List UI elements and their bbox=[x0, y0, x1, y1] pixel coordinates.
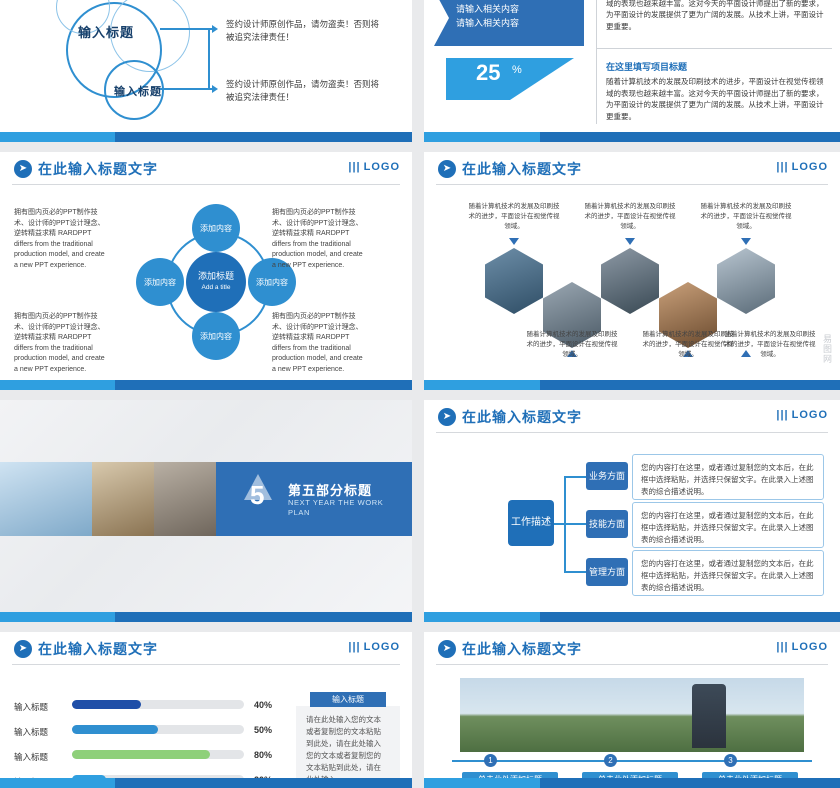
slide-8: ➤ 在此输入标题文字 |||LOGO 1 2 3 单击此处添加标题 单击此处添加… bbox=[424, 632, 840, 788]
slide7-bar-label-2: 输入标题 bbox=[14, 726, 48, 738]
slide4-bottom-bar bbox=[424, 380, 840, 390]
slide8-bullet-2-num: 2 bbox=[608, 756, 612, 765]
connector-vert bbox=[208, 28, 210, 90]
slide-2: 75 % 请输入相关内容 请输入相关内容 25 % 随着计算机技术的发展及印刷技… bbox=[424, 0, 840, 142]
slide2-para-1: 随着计算机技术的发展及印刷技术的进步，平面设计在视觉传视领域的表现也越来越丰富。… bbox=[606, 0, 824, 32]
slide3-logo: |||LOGO bbox=[348, 161, 400, 173]
slide1-title-main: 输入标题 bbox=[78, 22, 134, 41]
slide3-bubble-left-label: 添加内容 bbox=[144, 277, 176, 288]
slide8-photo-figure bbox=[692, 684, 726, 748]
connector-1 bbox=[160, 28, 212, 30]
slide6-box-2-text: 您的内容打在这里，或者通过复制您的文本后，在此框中选择粘贴，并选择只保留文字。在… bbox=[633, 503, 823, 553]
slide6-center-label: 工作描述 bbox=[508, 500, 554, 546]
slide-3: ➤ 在此输入标题文字 |||LOGO 添加标题 Add a title 添加内容… bbox=[0, 152, 412, 390]
slide-1: 输入标题 输入标题 签约设计师原创作品，请勿盗卖！否则将被追究法律责任！ 签约设… bbox=[0, 0, 412, 142]
slide3-bubble-bottom: 添加内容 bbox=[192, 312, 240, 360]
slide2-divider-left bbox=[596, 0, 597, 124]
slide5-title-cn: 第五部分标题 bbox=[288, 480, 372, 499]
slide-grid: 输入标题 输入标题 签约设计师原创作品，请勿盗卖！否则将被追究法律责任！ 签约设… bbox=[0, 0, 840, 788]
slide6-node-2-label: 技能方面 bbox=[589, 518, 625, 530]
slide6-box-3: 您的内容打在这里，或者通过复制您的文本后，在此框中选择粘贴，并选择只保留文字。在… bbox=[632, 550, 824, 596]
slide5-photo-1 bbox=[0, 462, 92, 536]
nav-arrow-icon: ➤ bbox=[438, 640, 456, 658]
nav-arrow-icon: ➤ bbox=[14, 640, 32, 658]
slide3-bottom-bar bbox=[0, 380, 412, 390]
slide3-center-cn: 添加标题 bbox=[198, 271, 234, 282]
slide3-header: ➤ 在此输入标题文字 |||LOGO bbox=[0, 152, 412, 186]
slide3-bubble-right-label: 添加内容 bbox=[256, 277, 288, 288]
slide1-text-1: 签约设计师原创作品，请勿盗卖！否则将被追究法律责任！ bbox=[226, 18, 386, 44]
slide4-logo: |||LOGO bbox=[776, 161, 828, 173]
slide3-bubble-top-label: 添加内容 bbox=[200, 223, 232, 234]
slide8-logo: |||LOGO bbox=[776, 641, 828, 653]
slide7-bar-label-3: 输入标题 bbox=[14, 751, 48, 763]
slide5-bottom-bar bbox=[0, 612, 412, 622]
slide2-divider-top bbox=[596, 48, 832, 49]
slide6-box-1-text: 您的内容打在这里，或者通过复制您的文本后，在此框中选择粘贴，并选择只保留文字。在… bbox=[633, 455, 823, 505]
slide8-header-rule bbox=[436, 664, 828, 665]
slide6-box-2: 您的内容打在这里，或者通过复制您的文本后，在此框中选择粘贴，并选择只保留文字。在… bbox=[632, 502, 824, 548]
slide4-top-text-1: 随着计算机技术的发展及印刷技术的进步，平面设计在视觉传视领域。 bbox=[468, 202, 560, 232]
slide2-pct-25-symbol: % bbox=[512, 64, 522, 76]
slide2-bottom-bar bbox=[424, 132, 840, 142]
watermark: 易图网 bbox=[821, 334, 834, 364]
slide6-logo: |||LOGO bbox=[776, 409, 828, 421]
nav-arrow-icon: ➤ bbox=[14, 160, 32, 178]
slide4-header-rule bbox=[436, 184, 828, 185]
slide6-connector-stub bbox=[554, 523, 566, 525]
slide7-title: 在此输入标题文字 bbox=[38, 639, 158, 659]
slide6-box-3-text: 您的内容打在这里，或者通过复制您的文本后，在此框中选择粘贴，并选择只保留文字。在… bbox=[633, 551, 823, 601]
slide6-header-rule bbox=[436, 432, 828, 433]
slide6-center-text: 工作描述 bbox=[511, 516, 551, 530]
slide2-chev-line1: 请输入相关内容 bbox=[456, 2, 519, 15]
nav-arrow-icon: ➤ bbox=[438, 160, 456, 178]
connector-arrow-1 bbox=[212, 25, 218, 33]
slide7-card-body: 请在此处输入您的文本或者复制您的文本粘贴到此处，请在此处输入您的文本或者复制您的… bbox=[306, 714, 388, 786]
slide3-text-tl: 拥有图内页必的PPT制作技术、设计师的PPT设计理念、逆转精益求精 RARDPP… bbox=[14, 208, 106, 271]
slide7-header: ➤ 在此输入标题文字 |||LOGO bbox=[0, 632, 412, 666]
slide6-header: ➤ 在此输入标题文字 |||LOGO bbox=[424, 400, 840, 434]
slide4-top-text-3: 随着计算机技术的发展及印刷技术的进步，平面设计在视觉传视领域。 bbox=[700, 202, 792, 232]
slide7-header-rule bbox=[12, 664, 400, 665]
slide4-top-text-2: 随着计算机技术的发展及印刷技术的进步，平面设计在视觉传视领域。 bbox=[584, 202, 676, 232]
slide8-photo bbox=[460, 678, 804, 752]
slide2-para-2: 随着计算机技术的发展及印刷技术的进步，平面设计在视觉传视领域的表现也越来越丰富。… bbox=[606, 76, 824, 122]
slide4-bottom-text-3: 随着计算机技术的发展及印刷技术的进步，平面设计在视觉传视领域。 bbox=[724, 330, 816, 360]
slide4-caret-down-3 bbox=[741, 238, 751, 245]
slide6-node-2: 技能方面 bbox=[586, 510, 628, 538]
slide6-connector-h2 bbox=[564, 523, 586, 525]
slide5-photo-3 bbox=[154, 462, 216, 536]
slide7-bar-fill-2 bbox=[72, 725, 158, 734]
slide4-hex-5 bbox=[717, 248, 775, 314]
logo-bars-icon: ||| bbox=[776, 641, 788, 653]
slide6-box-1: 您的内容打在这里，或者通过复制您的文本后，在此框中选择粘贴，并选择只保留文字。在… bbox=[632, 454, 824, 500]
nav-arrow-icon: ➤ bbox=[438, 408, 456, 426]
slide2-right-head: 在这里填写项目标题 bbox=[606, 60, 687, 73]
slide8-bullet-3: 3 bbox=[724, 754, 737, 767]
slide5-title-en: NEXT YEAR THE WORK PLAN bbox=[288, 498, 398, 518]
slide8-bullet-1-num: 1 bbox=[488, 756, 492, 765]
slide6-node-1-label: 业务方面 bbox=[589, 470, 625, 482]
slide6-title: 在此输入标题文字 bbox=[462, 407, 582, 427]
slide7-logo: |||LOGO bbox=[348, 641, 400, 653]
slide3-logo-text: LOGO bbox=[364, 161, 400, 173]
connector-2 bbox=[160, 88, 212, 90]
slide4-header: ➤ 在此输入标题文字 |||LOGO bbox=[424, 152, 840, 186]
slide1-title-sub: 输入标题 bbox=[114, 83, 162, 99]
slide6-bottom-bar bbox=[424, 612, 840, 622]
slide6-node-1: 业务方面 bbox=[586, 462, 628, 490]
slide5-photo-2 bbox=[92, 462, 154, 536]
slide3-text-tr: 拥有图内页必的PPT制作技术、设计师的PPT设计理念、逆转精益求精 RARDPP… bbox=[272, 208, 364, 271]
slide4-hex-1 bbox=[485, 248, 543, 314]
slide3-bubble-left: 添加内容 bbox=[136, 258, 184, 306]
slide8-bullet-1: 1 bbox=[484, 754, 497, 767]
connector-arrow-2 bbox=[212, 85, 218, 93]
slide5-number: 5 bbox=[250, 480, 264, 511]
slide3-text-br: 拥有图内页必的PPT制作技术、设计师的PPT设计理念、逆转精益求精 RARDPP… bbox=[272, 312, 364, 375]
slide-7: ➤ 在此输入标题文字 |||LOGO 输入标题 40% 输入标题 50% 输入标… bbox=[0, 632, 412, 788]
slide2-chev-line2: 请输入相关内容 bbox=[456, 16, 519, 29]
slide3-bubble-bottom-label: 添加内容 bbox=[200, 331, 232, 342]
slide3-header-rule bbox=[12, 184, 400, 185]
slide3-center-en: Add a title bbox=[202, 282, 231, 293]
slide7-bar-pct-3: 80% bbox=[254, 750, 272, 760]
slide6-connector-h3 bbox=[564, 571, 586, 573]
slide4-title: 在此输入标题文字 bbox=[462, 159, 582, 179]
slide4-bottom-text-1: 随着计算机技术的发展及印刷技术的进步，平面设计在视觉传视领域。 bbox=[526, 330, 618, 360]
slide2-pct-25: 25 bbox=[476, 60, 500, 86]
logo-bars-icon: ||| bbox=[348, 641, 360, 653]
logo-bars-icon: ||| bbox=[776, 409, 788, 421]
slide-5: 5 第五部分标题 NEXT YEAR THE WORK PLAN bbox=[0, 400, 412, 622]
logo-bars-icon: ||| bbox=[348, 161, 360, 173]
slide6-logo-text: LOGO bbox=[792, 409, 828, 421]
slide7-bar-pct-1: 40% bbox=[254, 700, 272, 710]
slide7-bar-fill-3 bbox=[72, 750, 210, 759]
slide8-header: ➤ 在此输入标题文字 |||LOGO bbox=[424, 632, 840, 666]
slide-6: ➤ 在此输入标题文字 |||LOGO 工作描述 业务方面 技能方面 管理方面 您… bbox=[424, 400, 840, 622]
slide8-title: 在此输入标题文字 bbox=[462, 639, 582, 659]
slide4-caret-down-2 bbox=[625, 238, 635, 245]
slide3-center-bubble: 添加标题 Add a title bbox=[186, 252, 246, 312]
slide6-node-3: 管理方面 bbox=[586, 558, 628, 586]
slide2-chevron-25 bbox=[446, 58, 574, 100]
slide3-bubble-top: 添加内容 bbox=[192, 204, 240, 252]
slide8-logo-text: LOGO bbox=[792, 641, 828, 653]
slide6-node-3-label: 管理方面 bbox=[589, 566, 625, 578]
slide6-connector-h1 bbox=[564, 476, 586, 478]
slide7-bar-fill-1 bbox=[72, 700, 141, 709]
slide-4: ➤ 在此输入标题文字 |||LOGO 随着计算机技术的发展及印刷技术的进步，平面… bbox=[424, 152, 840, 390]
slide7-bar-pct-2: 50% bbox=[254, 725, 272, 735]
slide8-bullet-3-num: 3 bbox=[728, 756, 732, 765]
slide4-bottom-text-2: 随着计算机技术的发展及印刷技术的进步，平面设计在视觉传视领域。 bbox=[642, 330, 734, 360]
slide3-text-bl: 拥有图内页必的PPT制作技术、设计师的PPT设计理念、逆转精益求精 RARDPP… bbox=[14, 312, 106, 375]
slide3-title: 在此输入标题文字 bbox=[38, 159, 158, 179]
logo-bars-icon: ||| bbox=[776, 161, 788, 173]
slide1-text-2: 签约设计师原创作品，请勿盗卖！否则将被追究法律责任！ bbox=[226, 78, 386, 104]
slide7-logo-text: LOGO bbox=[364, 641, 400, 653]
slide8-bullet-2: 2 bbox=[604, 754, 617, 767]
slide1-bottom-bar bbox=[0, 132, 412, 142]
slide7-card-tab-label: 输入标题 bbox=[332, 695, 364, 704]
slide4-logo-text: LOGO bbox=[792, 161, 828, 173]
slide7-card-tab: 输入标题 bbox=[310, 692, 386, 707]
slide8-divider-line bbox=[452, 760, 812, 762]
slide7-bar-label-1: 输入标题 bbox=[14, 701, 48, 713]
slide7-bottom-bar bbox=[0, 778, 412, 788]
slide4-caret-down-1 bbox=[509, 238, 519, 245]
slide4-hex-3 bbox=[601, 248, 659, 314]
slide8-bottom-bar bbox=[424, 778, 840, 788]
